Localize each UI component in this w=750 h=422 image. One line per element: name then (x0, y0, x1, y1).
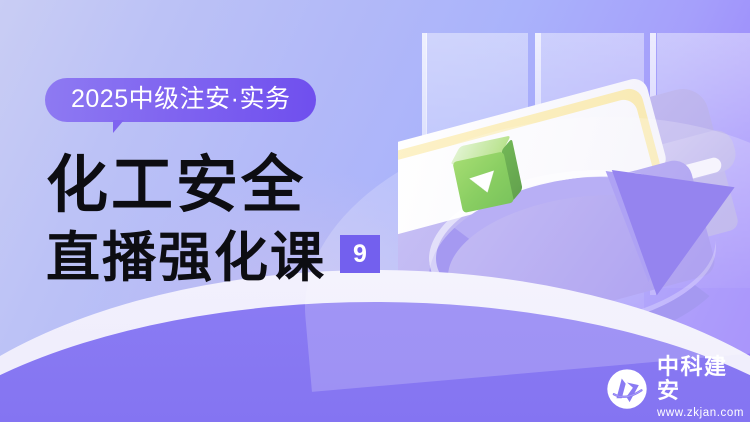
course-tag-tail (113, 120, 124, 133)
brand-url: www.zkjan.com (657, 406, 750, 421)
headline-line-1-text: 化工安全 (46, 148, 306, 221)
course-tag: 2025中级注安·实务 (45, 78, 316, 122)
brand-name: 中科建安 (657, 356, 750, 404)
headline-line-2: 直播强化课9 (46, 222, 466, 292)
zkjan-logo-icon (606, 368, 648, 410)
brand-logo: 中科建安 www.zkjan.com (606, 356, 750, 421)
headline-line-2-text: 直播强化课 (46, 225, 326, 289)
headline-line-1: 化工安全 (46, 148, 466, 222)
brand-text: 中科建安 www.zkjan.com (657, 356, 750, 421)
course-promo-banner: 2025中级注安·实务 化工安全 直播强化课9 中科建安 www.zkjan.c… (0, 0, 750, 422)
headline-group: 化工安全 直播强化课9 (46, 148, 466, 292)
episode-badge: 9 (340, 235, 380, 273)
course-tag-label: 2025中级注安·实务 (45, 78, 316, 122)
